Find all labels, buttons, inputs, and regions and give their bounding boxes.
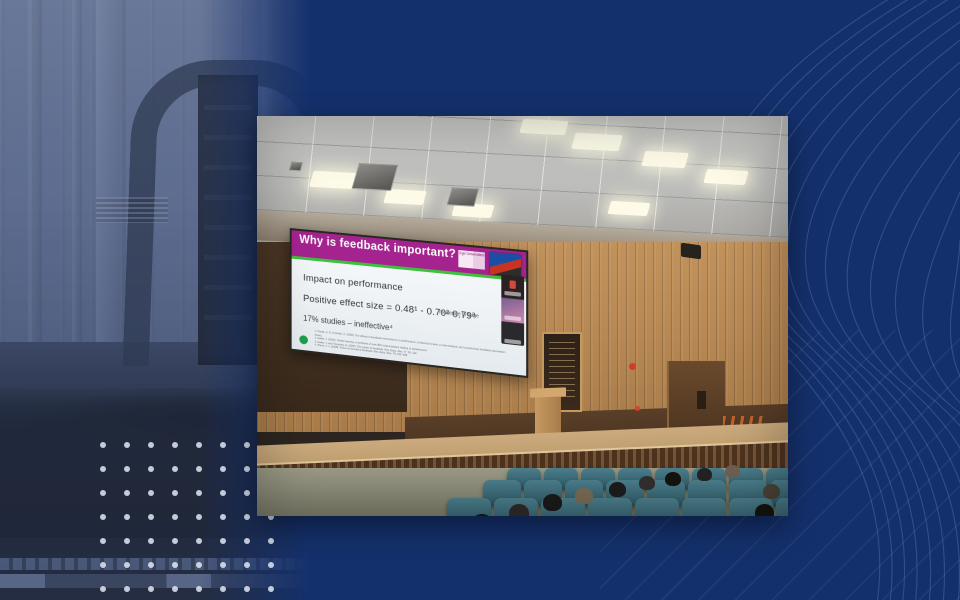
university-logo: Ege Üniversitesi [458, 250, 485, 270]
decorative-dot [124, 514, 130, 520]
decorative-dot [244, 538, 250, 544]
decorative-dot [124, 538, 130, 544]
decorative-dot [100, 586, 106, 592]
decorative-dot [172, 442, 178, 448]
decorative-dot [100, 466, 106, 472]
decorative-dot [220, 586, 226, 592]
decorative-dot [220, 490, 226, 496]
decorative-dot [100, 562, 106, 568]
decorative-dot [148, 466, 154, 472]
decorative-dot [244, 562, 250, 568]
decorative-dot [196, 562, 202, 568]
audience-member [609, 482, 626, 497]
decorative-dot [172, 490, 178, 496]
decorative-dot [196, 490, 202, 496]
decorative-dot [148, 538, 154, 544]
decorative-dot [244, 466, 250, 472]
audience-member [575, 488, 593, 504]
audience-member [725, 465, 740, 478]
decorative-dot [100, 442, 106, 448]
decorative-dot [244, 586, 250, 592]
decorative-dot [124, 490, 130, 496]
audience-member [639, 476, 655, 490]
decorative-dot [268, 562, 274, 568]
ceiling-air-vent [447, 187, 480, 206]
audience-seat [776, 498, 788, 516]
decorative-dot [244, 490, 250, 496]
decorative-dot [148, 490, 154, 496]
decorative-dot [196, 442, 202, 448]
audience-member [763, 484, 780, 499]
decorative-dot [124, 466, 130, 472]
decorative-dot [220, 514, 226, 520]
decorative-dot [220, 538, 226, 544]
decorative-dot [148, 586, 154, 592]
decorative-dot [124, 586, 130, 592]
audience-seat [588, 498, 632, 516]
decorative-dot [220, 562, 226, 568]
effect-label: Positive effect size = [303, 293, 395, 314]
decorative-dot [220, 466, 226, 472]
decorative-dot [124, 562, 130, 568]
green-check-badge [298, 334, 309, 346]
video-participant-tile [501, 298, 524, 324]
decorative-dot [172, 538, 178, 544]
decorative-dot [196, 586, 202, 592]
decorative-dot [148, 514, 154, 520]
audience-seat [635, 498, 679, 516]
audience-member [543, 494, 562, 511]
book-cover-logo [490, 252, 521, 277]
decorative-dot [124, 442, 130, 448]
decorative-dot [172, 514, 178, 520]
decorative-dot [172, 466, 178, 472]
audience-member [509, 504, 529, 516]
ceiling-air-vent [352, 163, 399, 191]
poster-canvas: Why is feedback important? Ege Üniversit… [0, 0, 960, 600]
decorative-dot [148, 442, 154, 448]
decorative-dot [196, 466, 202, 472]
wall-speaker [681, 243, 701, 260]
decorative-dot [148, 562, 154, 568]
video-participant-tile [501, 274, 524, 300]
fire-alarm-icon [629, 363, 636, 370]
decorative-dot [172, 586, 178, 592]
video-participant-tile [501, 322, 524, 346]
decorative-dot [268, 538, 274, 544]
audience-seat [682, 498, 726, 516]
decorative-dot [100, 490, 106, 496]
decorative-dot [220, 442, 226, 448]
auditorium-presentation-photo: Why is feedback important? Ege Üniversit… [257, 116, 788, 516]
decorative-dot [196, 538, 202, 544]
decorative-dot [100, 538, 106, 544]
audience-member [755, 504, 774, 516]
audience-member [697, 468, 712, 481]
decorative-dot [196, 514, 202, 520]
decorative-dot [244, 442, 250, 448]
fire-alarm-icon [635, 406, 640, 411]
ceiling-camera [289, 162, 303, 172]
decorative-dot [268, 586, 274, 592]
decorative-dot [244, 514, 250, 520]
video-conference-participant-strip [501, 274, 524, 346]
decorative-dot [100, 514, 106, 520]
slide-heading: Impact on performance [303, 272, 403, 293]
audience-member [665, 472, 681, 486]
decorative-dot [172, 562, 178, 568]
